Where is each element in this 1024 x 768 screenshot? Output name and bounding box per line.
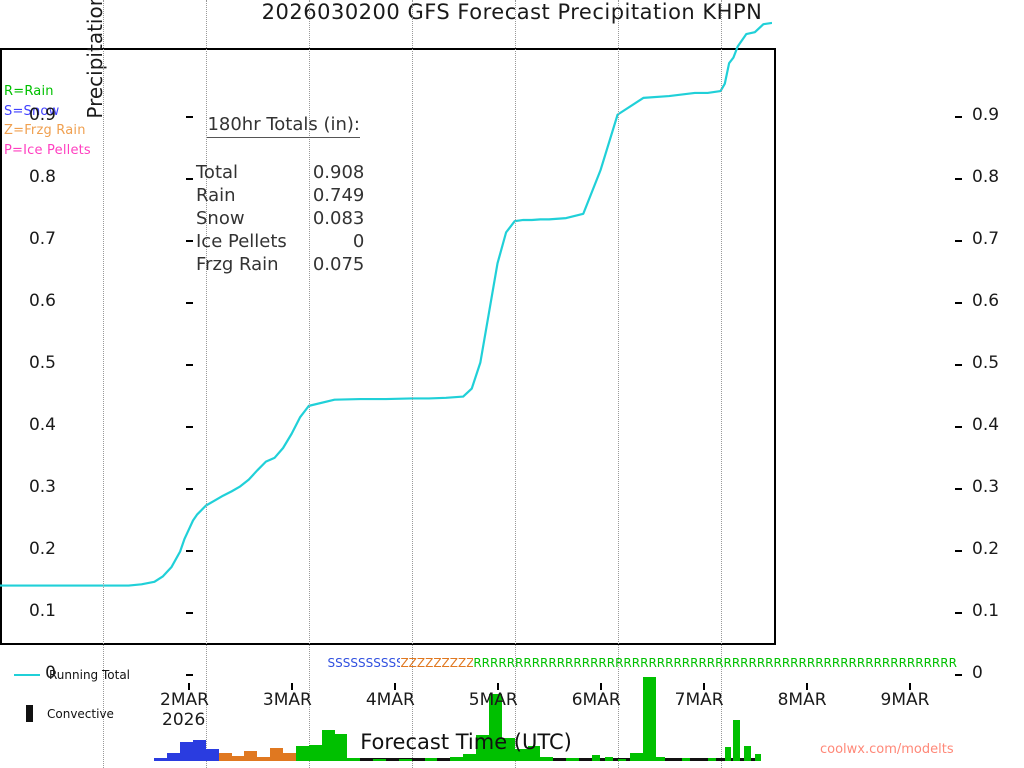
bar-rain [373, 759, 386, 761]
y-axis-tick-mark [186, 550, 193, 552]
x-axis-tick-mark [188, 683, 190, 690]
y-axis-tick-mark [186, 116, 193, 118]
y-axis-tick-mark [186, 488, 193, 490]
totals-header: 180hr Totals (in): [207, 113, 360, 138]
y-axis-tick-mark [186, 178, 193, 180]
totals-box: 180hr Totals (in): Total 0.908 Rain 0.74… [196, 90, 364, 299]
y-axis-tick-label: 0.8 [0, 167, 56, 187]
totals-value-total: 0.908 [287, 161, 365, 184]
y-axis-tick-mark [955, 674, 962, 676]
y-axis-tick-mark [186, 302, 193, 304]
bar-rain [708, 758, 717, 760]
running-total-line [0, 0, 772, 593]
x-axis-tick-mark [497, 683, 499, 690]
y-axis-tick-label: 0 [972, 663, 1024, 683]
x-axis-tick-label: 6MAR [572, 690, 621, 710]
y-axis-tick-label: 0.1 [0, 601, 56, 621]
x-axis-tick-mark [703, 683, 705, 690]
x-axis-tick-label: 3MAR [263, 690, 312, 710]
credit-text: coolwx.com/modelts [820, 742, 954, 757]
y-axis-tick-mark [955, 550, 962, 552]
gridline-vertical [618, 0, 619, 768]
gridline-vertical [721, 0, 722, 768]
totals-label-frzg-rain: Frzg Rain [196, 253, 287, 276]
y-axis-tick-mark [955, 488, 962, 490]
y-axis-tick-label: 0 [0, 663, 56, 683]
y-axis-tick-label: 0.3 [0, 477, 56, 497]
bar-rain [425, 758, 438, 760]
y-axis-tick-label: 0.7 [972, 229, 1024, 249]
bar-frzg-rain [257, 757, 270, 761]
ptype-segment-R: RRRRRRRRRRRRRRRRRRRRRRRRRRRRRRRRRRRRRRRR… [473, 655, 958, 672]
y-axis-tick-label: 0.7 [0, 229, 56, 249]
bar-frzg-rain [232, 756, 245, 761]
bar-rain [656, 757, 665, 761]
x-axis-tick-mark [909, 683, 911, 690]
convective-swatch-icon [26, 705, 33, 722]
x-axis-tick-label: 7MAR [675, 690, 724, 710]
y-axis-tick-label: 0.2 [972, 539, 1024, 559]
totals-row: Total 0.908 [196, 161, 364, 184]
totals-label-rain: Rain [196, 184, 287, 207]
ptype-segment-Z: ZZZZZZZZZZZZZ [400, 655, 473, 672]
totals-row: Ice Pellets 0 [196, 230, 364, 253]
y-axis-tick-label: 0.4 [972, 415, 1024, 435]
plot-area [0, 48, 776, 645]
y-axis-tick-mark [186, 364, 193, 366]
y-axis-tick-mark [955, 116, 962, 118]
bar-rain [755, 754, 761, 760]
x-axis-tick-mark [394, 683, 396, 690]
totals-label-total: Total [196, 161, 287, 184]
y-axis-tick-label: 0.8 [972, 167, 1024, 187]
x-axis-tick-mark [600, 683, 602, 690]
y-axis-tick-mark [186, 674, 193, 676]
y-axis-tick-label: 0.4 [0, 415, 56, 435]
bar-rain [605, 757, 614, 760]
totals-row: Snow 0.083 [196, 207, 364, 230]
bar-rain [540, 757, 553, 761]
legend-running-total-label: Running Total [49, 668, 130, 682]
bar-rain [630, 753, 643, 760]
x-axis-tick-label: 5MAR [469, 690, 518, 710]
gridline-vertical [515, 0, 516, 768]
bar-rain [399, 759, 412, 761]
running-total-path [0, 23, 772, 586]
y-axis-tick-label: 0.1 [972, 601, 1024, 621]
totals-value-ice-pellets: 0 [287, 230, 365, 253]
legend-convective: Convective [14, 705, 114, 722]
x-axis-tick-label: 8MAR [778, 690, 827, 710]
y-axis-tick-mark [186, 240, 193, 242]
precip-type-band: SSSSSSSSSSSSSZZZZZZZZZZZZZRRRRRRRRRRRRRR… [186, 655, 962, 672]
y-axis-tick-label: 0.5 [972, 353, 1024, 373]
gridline-vertical [412, 0, 413, 768]
totals-value-rain: 0.749 [287, 184, 365, 207]
y-axis-tick-label: 0.9 [972, 105, 1024, 125]
gridline-vertical [103, 0, 104, 768]
x-axis-tick-label: 9MAR [881, 690, 930, 710]
y-axis-tick-label: 0.2 [0, 539, 56, 559]
totals-value-frzg-rain: 0.075 [287, 253, 365, 276]
y-axis-tick-mark [955, 426, 962, 428]
y-axis-tick-label: 0.6 [0, 291, 56, 311]
bar-frzg-rain [283, 753, 296, 760]
y-axis-tick-mark [955, 240, 962, 242]
y-axis-tick-mark [955, 612, 962, 614]
bar-rain [463, 754, 476, 760]
bar-rain [682, 758, 691, 760]
bar-rain [618, 759, 627, 761]
y-axis-tick-label: 0.3 [972, 477, 1024, 497]
y-axis-tick-mark [186, 612, 193, 614]
totals-row: Frzg Rain 0.075 [196, 253, 364, 276]
bar-rain [566, 758, 579, 760]
y-axis-tick-mark [955, 364, 962, 366]
legend-convective-label: Convective [47, 707, 114, 721]
x-axis-tick-mark [291, 683, 293, 690]
y-axis-tick-label: 0.9 [0, 105, 56, 125]
y-axis-tick-label: 0.6 [972, 291, 1024, 311]
bar-snow [167, 753, 180, 760]
totals-label-snow: Snow [196, 207, 287, 230]
y-axis-tick-mark [186, 426, 193, 428]
bar-rain [450, 757, 463, 760]
totals-table: Total 0.908 Rain 0.749 Snow 0.083 Ice Pe… [196, 161, 364, 276]
y-axis-tick-label: 0.5 [0, 353, 56, 373]
y-axis-tick-mark [955, 302, 962, 304]
totals-label-ice-pellets: Ice Pellets [196, 230, 287, 253]
bar-rain [347, 758, 360, 760]
x-axis-title: Forecast Time (UTC) [186, 730, 746, 754]
bar-snow [154, 758, 167, 760]
totals-value-snow: 0.083 [287, 207, 365, 230]
y-axis-tick-mark [955, 178, 962, 180]
x-axis-tick-mark [806, 683, 808, 690]
totals-row: Rain 0.749 [196, 184, 364, 207]
x-axis-tick-label: 2MAR [160, 690, 209, 710]
ptype-segment-S: SSSSSSSSSSSSS [328, 655, 401, 672]
x-axis-year-label: 2026 [162, 710, 205, 730]
plot-inner [0, 0, 1024, 768]
x-axis-tick-label: 4MAR [366, 690, 415, 710]
bar-rain [592, 755, 601, 761]
